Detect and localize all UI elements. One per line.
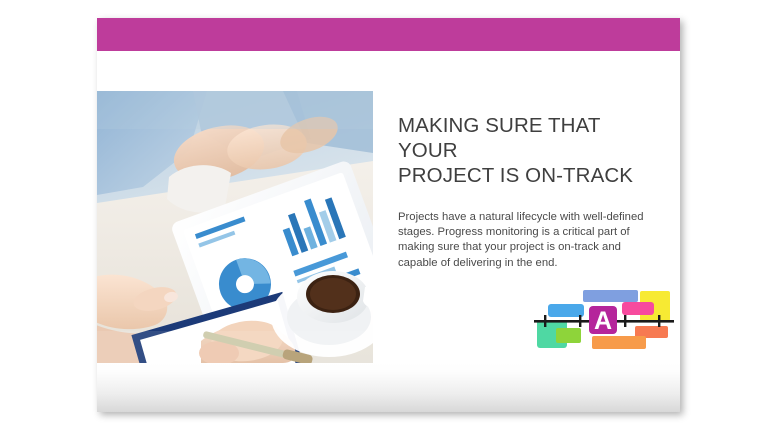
- body-text: Projects have a natural lifecycle with w…: [398, 188, 656, 271]
- photo-business-tablet: [97, 91, 373, 363]
- gantt-chart-illustration: A: [534, 284, 674, 350]
- gantt-chart-graphic: A: [534, 284, 674, 350]
- footer-band: [97, 363, 680, 412]
- page-title-line-2: PROJECT IS ON-TRACK: [398, 164, 633, 187]
- bar-orange-left: [592, 336, 646, 349]
- page-title-line-1: MAKING SURE THAT YOUR: [398, 114, 600, 162]
- bar-blue-top: [583, 290, 638, 302]
- slide-card: MAKING SURE THAT YOURPROJECT IS ON-TRACK…: [97, 18, 680, 412]
- photo-illustration: [97, 91, 373, 363]
- bar-pink: [622, 302, 654, 315]
- bar-blue-left: [548, 304, 584, 317]
- page-title: MAKING SURE THAT YOURPROJECT IS ON-TRACK: [398, 113, 656, 188]
- logo-tile: A: [589, 306, 617, 335]
- bar-green-small: [556, 328, 581, 343]
- text-column: MAKING SURE THAT YOURPROJECT IS ON-TRACK…: [398, 113, 656, 271]
- logo-letter: A: [594, 307, 612, 335]
- accent-bar: [97, 18, 680, 51]
